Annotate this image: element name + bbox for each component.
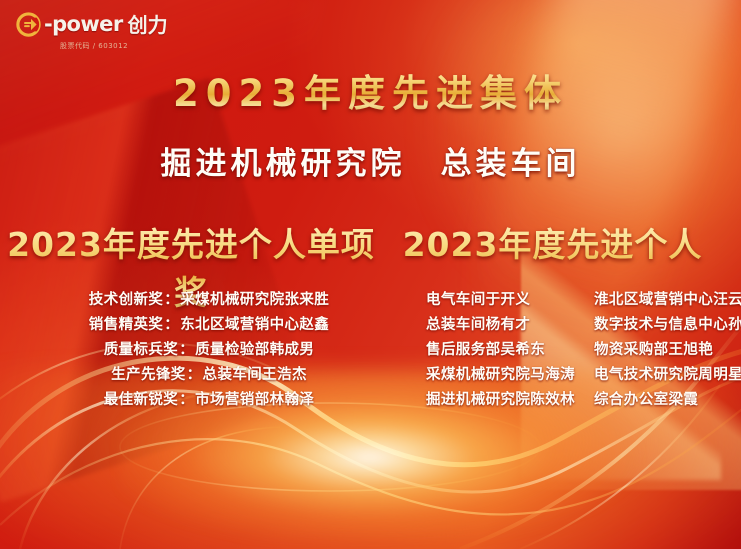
individual-row: 采煤机械研究院马海涛电气技术研究院周明星 xyxy=(400,363,741,388)
award-poster: -power 创力 股票代码 / 603012 2023年度先进集体 掘进机械研… xyxy=(0,0,741,549)
stock-code-label: 股票代码 / 603012 xyxy=(60,41,216,51)
award-row: 销售精英奖：东北区域营销中心赵鑫 xyxy=(18,313,400,338)
company-logo[interactable]: -power 创力 股票代码 / 603012 xyxy=(16,12,216,51)
award-recipient: 采煤机械研究院张来胜 xyxy=(180,288,329,309)
award-recipient: 东北区域营销中心赵鑫 xyxy=(180,313,329,334)
individual-name-left: 电气车间于开义 xyxy=(426,288,594,309)
individual-name-right: 综合办公室梁霞 xyxy=(594,388,698,409)
poster-subtitle: 掘进机械研究院 总装车间 xyxy=(0,138,741,183)
award-separator: ： xyxy=(163,313,180,334)
award-separator: ： xyxy=(178,338,195,359)
award-name: 质量标兵奖 xyxy=(104,338,179,359)
individual-row: 总装车间杨有才数字技术与信息中心孙伟伟 xyxy=(400,313,741,338)
logo-wordmark-cn: 创力 xyxy=(128,15,168,35)
individual-name-left: 采煤机械研究院马海涛 xyxy=(426,363,594,384)
individual-name-right: 数字技术与信息中心孙伟伟 xyxy=(594,313,741,334)
c-power-logo-icon xyxy=(16,12,41,37)
award-row: 最佳新锐奖：市场营销部林翰泽 xyxy=(18,388,400,413)
award-name: 生产先锋奖 xyxy=(111,363,186,384)
individual-name-left: 掘进机械研究院陈效林 xyxy=(426,388,594,409)
award-recipient: 市场营销部林翰泽 xyxy=(195,388,314,409)
winner-lists: 技术创新奖：采煤机械研究院张来胜销售精英奖：东北区域营销中心赵鑫质量标兵奖：质量… xyxy=(0,288,741,413)
award-name: 销售精英奖 xyxy=(89,313,164,334)
award-separator: ： xyxy=(163,288,180,309)
individual-name-right: 物资采购部王旭艳 xyxy=(594,338,713,359)
individual-list: 电气车间于开义淮北区域营销中心汪云龙总装车间杨有才数字技术与信息中心孙伟伟售后服… xyxy=(400,288,741,413)
individual-row: 售后服务部吴希东物资采购部王旭艳 xyxy=(400,338,741,363)
individual-name-right: 电气技术研究院周明星 xyxy=(594,363,741,384)
individual-row: 电气车间于开义淮北区域营销中心汪云龙 xyxy=(400,288,741,313)
logo-wordmark: -power xyxy=(44,14,123,35)
poster-title: 2023年度先进集体 xyxy=(0,63,741,117)
award-separator: ： xyxy=(186,363,203,384)
award-row: 质量标兵奖：质量检验部韩成男 xyxy=(18,338,400,363)
award-name: 最佳新锐奖 xyxy=(104,388,179,409)
award-row: 技术创新奖：采煤机械研究院张来胜 xyxy=(18,288,400,313)
individual-name-left: 总装车间杨有才 xyxy=(426,313,594,334)
individual-name-left: 售后服务部吴希东 xyxy=(426,338,594,359)
individual-row: 掘进机械研究院陈效林综合办公室梁霞 xyxy=(400,388,741,413)
award-recipient: 质量检验部韩成男 xyxy=(195,338,314,359)
individual-name-right: 淮北区域营销中心汪云龙 xyxy=(594,288,741,309)
award-recipient: 总装车间王浩杰 xyxy=(203,363,307,384)
award-list: 技术创新奖：采煤机械研究院张来胜销售精英奖：东北区域营销中心赵鑫质量标兵奖：质量… xyxy=(0,288,400,413)
award-separator: ： xyxy=(178,388,195,409)
award-row: 生产先锋奖：总装车间王浩杰 xyxy=(18,363,400,388)
award-name: 技术创新奖 xyxy=(89,288,164,309)
